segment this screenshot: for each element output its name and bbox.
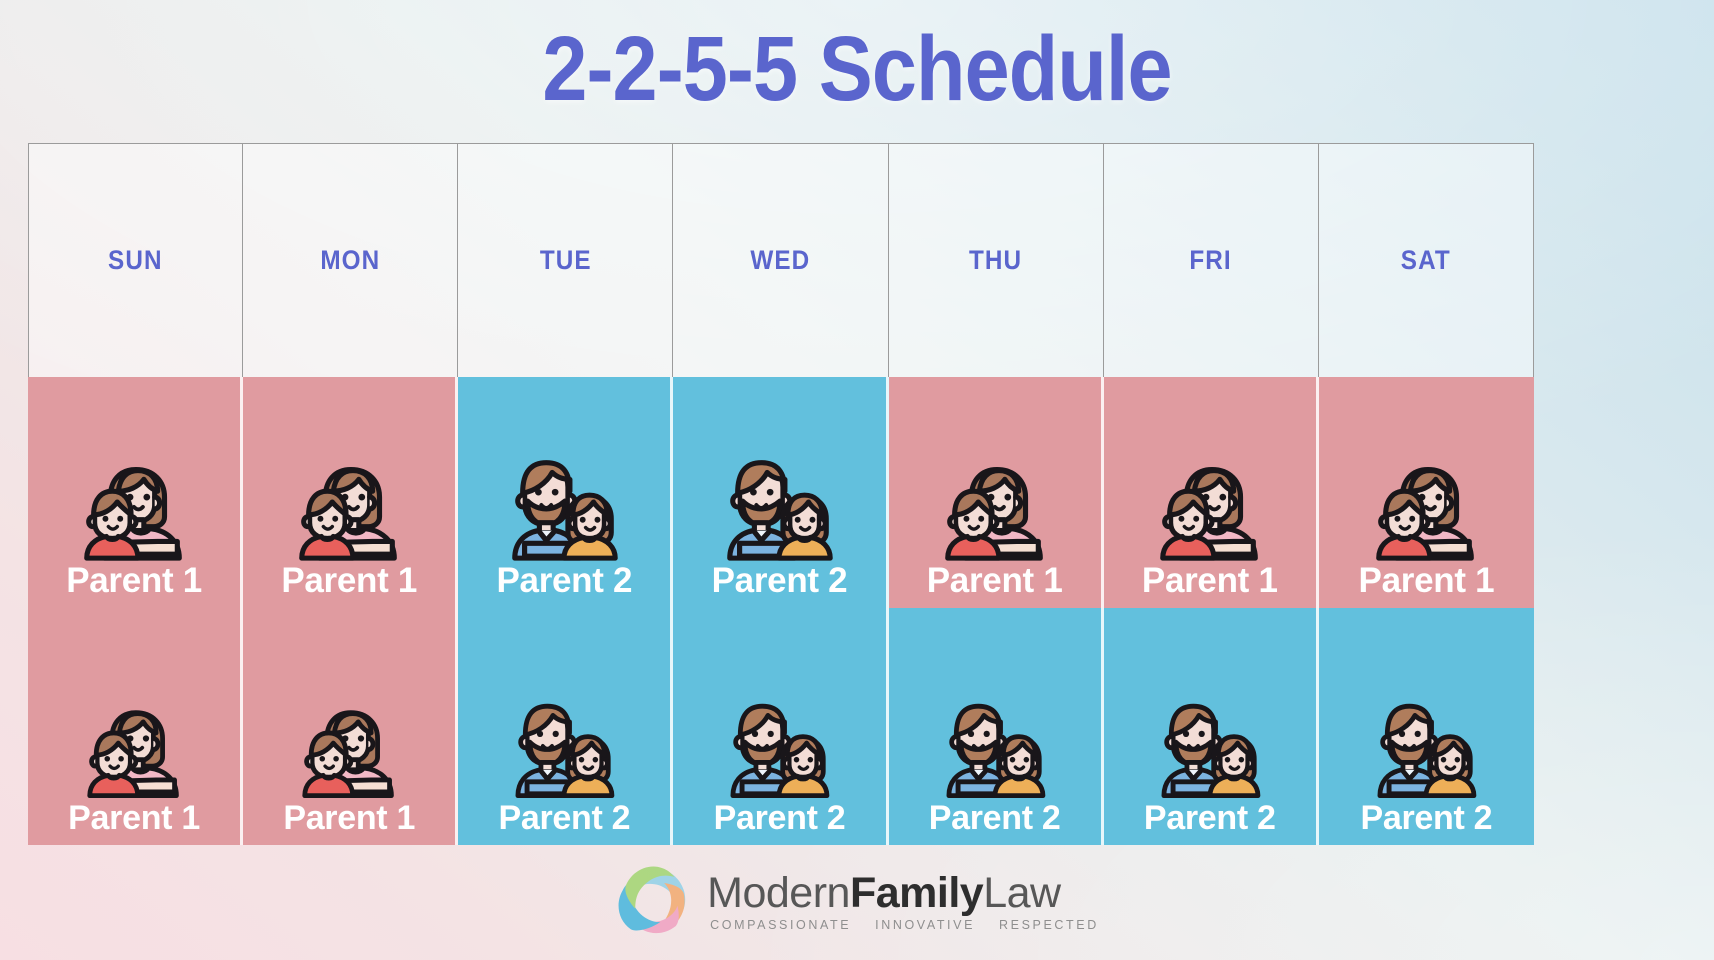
day-header-tue: TUE (457, 143, 673, 378)
day-header-sat: SAT (1318, 143, 1534, 378)
schedule-cell-label: Parent 1 (283, 797, 415, 839)
logo-word-law: Law (983, 869, 1060, 917)
mother-and-child-icon (1363, 440, 1489, 560)
schedule-cell-label: Parent 1 (1359, 560, 1495, 602)
day-header-label: WED (751, 245, 811, 276)
mother-and-child-icon (932, 440, 1058, 560)
schedule-cell-label: Parent 1 (66, 560, 202, 602)
logo-wordmark: ModernFamilyLaw (707, 870, 1099, 916)
schedule-cell-label: Parent 1 (281, 560, 417, 602)
mother-and-child-icon (286, 440, 412, 560)
day-header-label: THU (969, 245, 1022, 276)
page-title: 2-2-5-5 Schedule (103, 14, 1611, 124)
schedule-cell-week-2-mon[interactable]: Parent 1 (243, 608, 458, 845)
day-header-label: SAT (1401, 245, 1451, 276)
day-header-fri: FRI (1103, 143, 1319, 378)
schedule-cell-label: Parent 1 (1142, 560, 1278, 602)
logo-word-family: Family (850, 869, 983, 917)
tagline-word-1: COMPASSIONATE (710, 918, 851, 932)
schedule-cell-label: Parent 2 (1361, 797, 1493, 839)
father-and-child-icon (720, 685, 838, 797)
schedule-cell-week-2-fri[interactable]: Parent 2 (1104, 608, 1319, 845)
mother-and-child-icon (1147, 440, 1273, 560)
circular-petal-ring-icon (615, 862, 693, 940)
father-and-child-icon (505, 685, 623, 797)
father-and-child-icon (716, 440, 842, 560)
schedule-cell-week-1-wed[interactable]: Parent 2 (673, 377, 888, 608)
mother-and-child-icon (290, 685, 408, 797)
schedule-cell-week-1-mon[interactable]: Parent 1 (243, 377, 458, 608)
day-header-label: MON (320, 245, 380, 276)
day-header-mon: MON (242, 143, 458, 378)
schedule-cell-label: Parent 2 (929, 797, 1061, 839)
schedule-cell-label: Parent 1 (68, 797, 200, 839)
logo-text: ModernFamilyLaw COMPASSIONATE INNOVATIVE… (707, 870, 1099, 932)
day-header-thu: THU (888, 143, 1104, 378)
schedule-cell-week-1-fri[interactable]: Parent 1 (1104, 377, 1319, 608)
schedule-cell-label: Parent 2 (712, 560, 848, 602)
modern-family-law-logo: ModernFamilyLaw COMPASSIONATE INNOVATIVE… (0, 862, 1714, 940)
schedule-cell-week-2-tue[interactable]: Parent 2 (458, 608, 673, 845)
day-header-wed: WED (672, 143, 888, 378)
father-and-child-icon (936, 685, 1054, 797)
schedule-cell-label: Parent 2 (498, 797, 630, 839)
tagline-word-3: RESPECTED (999, 918, 1099, 932)
logo-word-modern: Modern (707, 869, 850, 917)
schedule-cell-week-2-sat[interactable]: Parent 2 (1319, 608, 1534, 845)
schedule-cell-label: Parent 2 (1144, 797, 1276, 839)
schedule-calendar: SUN MON TUE WED THU FRI SAT (28, 143, 1534, 845)
father-and-child-icon (501, 440, 627, 560)
schedule-cell-week-2-sun[interactable]: Parent 1 (28, 608, 243, 845)
day-header-label: FRI (1190, 245, 1232, 276)
schedule-cell-week-2-thu[interactable]: Parent 2 (889, 608, 1104, 845)
schedule-cell-week-2-wed[interactable]: Parent 2 (673, 608, 888, 845)
schedule-cell-week-1-thu[interactable]: Parent 1 (889, 377, 1104, 608)
mother-and-child-icon (75, 685, 193, 797)
schedule-cell-week-1-tue[interactable]: Parent 2 (458, 377, 673, 608)
schedule-cell-week-1-sat[interactable]: Parent 1 (1319, 377, 1534, 608)
tagline-word-2: INNOVATIVE (875, 918, 975, 932)
day-header-sun: SUN (28, 143, 243, 378)
father-and-child-icon (1151, 685, 1269, 797)
day-header-label: TUE (539, 245, 591, 276)
schedule-cell-week-1-sun[interactable]: Parent 1 (28, 377, 243, 608)
schedule-cell-label: Parent 1 (927, 560, 1063, 602)
schedule-cell-label: Parent 2 (496, 560, 632, 602)
day-header-label: SUN (108, 245, 163, 276)
logo-tagline: COMPASSIONATE INNOVATIVE RESPECTED (707, 918, 1099, 932)
father-and-child-icon (1367, 685, 1485, 797)
mother-and-child-icon (71, 440, 197, 560)
schedule-cell-label: Parent 2 (714, 797, 846, 839)
